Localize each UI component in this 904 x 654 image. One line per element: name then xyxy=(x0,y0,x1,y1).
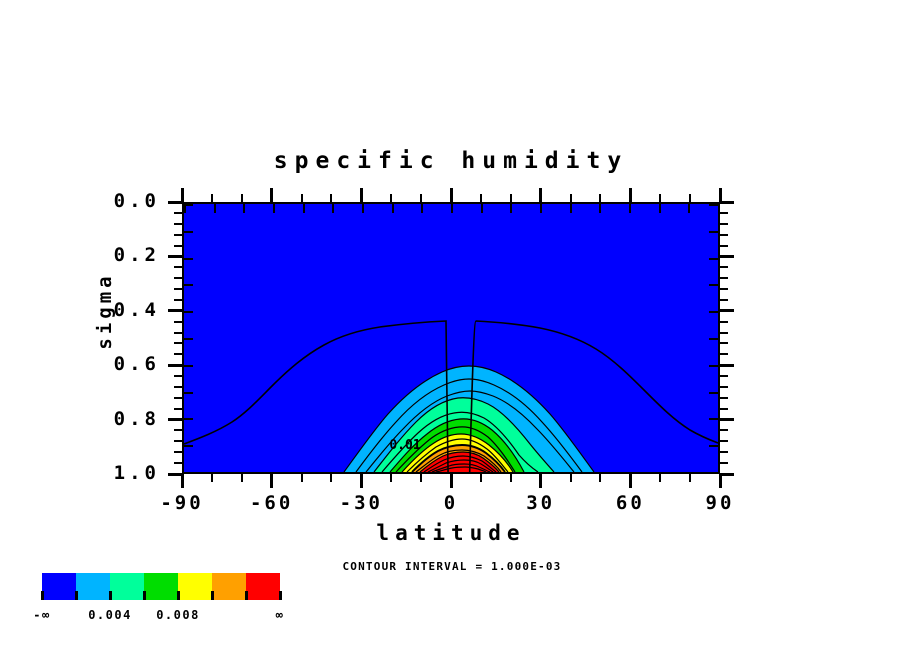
y-minor-tick-right xyxy=(720,353,728,355)
y-minor-tick-right xyxy=(720,397,728,399)
contour-fill-svg: 0.01 xyxy=(184,204,718,472)
x-major-tick-top xyxy=(629,188,632,202)
x-major-tick xyxy=(629,474,632,488)
y-minor-tick-right xyxy=(720,223,728,225)
y-minor-tick xyxy=(174,451,182,453)
x-minor-tick-top xyxy=(659,194,661,202)
y-major-tick xyxy=(168,255,182,258)
x-tick-label: 90 xyxy=(680,492,760,514)
colorbar-tick-label: 0.008 xyxy=(138,608,218,622)
y-minor-tick xyxy=(174,408,182,410)
colorbar-tick xyxy=(177,591,180,600)
x-minor-tick-top xyxy=(599,194,601,202)
colorbar-tick xyxy=(245,591,248,600)
y-major-tick-right xyxy=(720,201,734,204)
x-minor-tick-top xyxy=(420,194,422,202)
y-minor-tick xyxy=(174,245,182,247)
y-major-tick xyxy=(168,473,182,476)
y-minor-tick-right xyxy=(720,451,728,453)
colorbar-tick xyxy=(143,591,146,600)
colorbar-swatch xyxy=(76,573,110,600)
y-axis-label: sigma xyxy=(94,256,116,366)
contour-interval-note: CONTOUR INTERVAL = 1.000E-03 xyxy=(282,560,622,573)
x-major-tick xyxy=(270,474,273,488)
colorbar-swatch xyxy=(42,573,76,600)
y-major-tick xyxy=(168,309,182,312)
y-minor-tick-right xyxy=(720,342,728,344)
y-minor-tick-right xyxy=(720,299,728,301)
x-tick-label: 60 xyxy=(590,492,670,514)
y-minor-tick-right xyxy=(720,462,728,464)
y-minor-tick xyxy=(174,342,182,344)
y-minor-tick xyxy=(174,321,182,323)
colorbar-tick xyxy=(75,591,78,600)
x-minor-tick-top xyxy=(211,194,213,202)
x-minor-tick xyxy=(599,474,601,482)
y-major-tick xyxy=(168,201,182,204)
x-tick-label: 0 xyxy=(411,492,491,514)
y-minor-tick xyxy=(174,429,182,431)
colorbar-tick xyxy=(109,591,112,600)
y-tick-label: 0.8 xyxy=(82,408,160,430)
x-minor-tick-top xyxy=(570,194,572,202)
x-axis-label: latitude xyxy=(182,521,720,545)
x-minor-tick xyxy=(390,474,392,482)
x-minor-tick-top xyxy=(390,194,392,202)
x-tick-label: -90 xyxy=(142,492,222,514)
y-minor-tick xyxy=(174,234,182,236)
x-minor-tick-top xyxy=(241,194,243,202)
colorbar-tick xyxy=(41,591,44,600)
colorbar-swatch xyxy=(144,573,178,600)
y-minor-tick-right xyxy=(720,429,728,431)
svg-text:0.01: 0.01 xyxy=(389,438,420,453)
x-minor-tick-top xyxy=(330,194,332,202)
x-minor-tick xyxy=(330,474,332,482)
x-major-tick-top xyxy=(181,188,184,202)
y-major-tick-right xyxy=(720,309,734,312)
x-major-tick xyxy=(539,474,542,488)
x-major-tick-top xyxy=(270,188,273,202)
y-minor-tick-right xyxy=(720,408,728,410)
y-major-tick-right xyxy=(720,418,734,421)
y-minor-tick-right xyxy=(720,321,728,323)
y-minor-tick-right xyxy=(720,212,728,214)
x-major-tick-top xyxy=(360,188,363,202)
y-minor-tick-right xyxy=(720,266,728,268)
x-major-tick xyxy=(181,474,184,488)
y-major-tick-right xyxy=(720,473,734,476)
y-major-tick-right xyxy=(720,364,734,367)
x-minor-tick-top xyxy=(480,194,482,202)
x-minor-tick xyxy=(689,474,691,482)
x-major-tick xyxy=(360,474,363,488)
x-minor-tick xyxy=(211,474,213,482)
y-minor-tick-right xyxy=(720,234,728,236)
y-major-tick xyxy=(168,364,182,367)
y-minor-tick xyxy=(174,266,182,268)
y-minor-tick xyxy=(174,440,182,442)
y-tick-label: 0.0 xyxy=(82,190,160,212)
x-tick-label: 30 xyxy=(501,492,581,514)
y-tick-label: 1.0 xyxy=(82,462,160,484)
y-minor-tick xyxy=(174,277,182,279)
colorbar-tick xyxy=(211,591,214,600)
colorbar-swatch xyxy=(178,573,212,600)
y-minor-tick-right xyxy=(720,386,728,388)
y-minor-tick xyxy=(174,397,182,399)
y-minor-tick xyxy=(174,462,182,464)
y-minor-tick-right xyxy=(720,440,728,442)
x-minor-tick-top xyxy=(301,194,303,202)
y-major-tick xyxy=(168,418,182,421)
x-major-tick-top xyxy=(450,188,453,202)
x-major-tick xyxy=(450,474,453,488)
x-tick-label: -60 xyxy=(232,492,312,514)
y-minor-tick xyxy=(174,212,182,214)
x-major-tick-top xyxy=(539,188,542,202)
y-minor-tick-right xyxy=(720,288,728,290)
x-minor-tick xyxy=(420,474,422,482)
x-major-tick-top xyxy=(719,188,722,202)
x-tick-label: -30 xyxy=(321,492,401,514)
contour-plot-area: 0.01 xyxy=(182,202,720,474)
y-minor-tick xyxy=(174,332,182,334)
colorbar-swatch xyxy=(212,573,246,600)
y-minor-tick-right xyxy=(720,245,728,247)
inline-contour-label: 0.01 xyxy=(382,436,428,453)
y-minor-tick-right xyxy=(720,375,728,377)
x-minor-tick xyxy=(480,474,482,482)
colorbar-tick xyxy=(279,591,282,600)
x-minor-tick-top xyxy=(689,194,691,202)
colorbar-swatch xyxy=(246,573,280,600)
y-minor-tick xyxy=(174,288,182,290)
x-minor-tick xyxy=(659,474,661,482)
x-minor-tick xyxy=(241,474,243,482)
x-minor-tick xyxy=(570,474,572,482)
y-minor-tick-right xyxy=(720,332,728,334)
y-minor-tick xyxy=(174,375,182,377)
y-minor-tick xyxy=(174,299,182,301)
y-major-tick-right xyxy=(720,255,734,258)
x-minor-tick-top xyxy=(510,194,512,202)
y-minor-tick xyxy=(174,223,182,225)
page-title: specific humidity xyxy=(182,148,720,174)
x-major-tick xyxy=(719,474,722,488)
colorbar-tick-label: ∞ xyxy=(240,608,320,622)
x-minor-tick xyxy=(301,474,303,482)
x-minor-tick xyxy=(510,474,512,482)
y-minor-tick xyxy=(174,353,182,355)
y-minor-tick-right xyxy=(720,277,728,279)
colorbar-swatch xyxy=(110,573,144,600)
y-minor-tick xyxy=(174,386,182,388)
